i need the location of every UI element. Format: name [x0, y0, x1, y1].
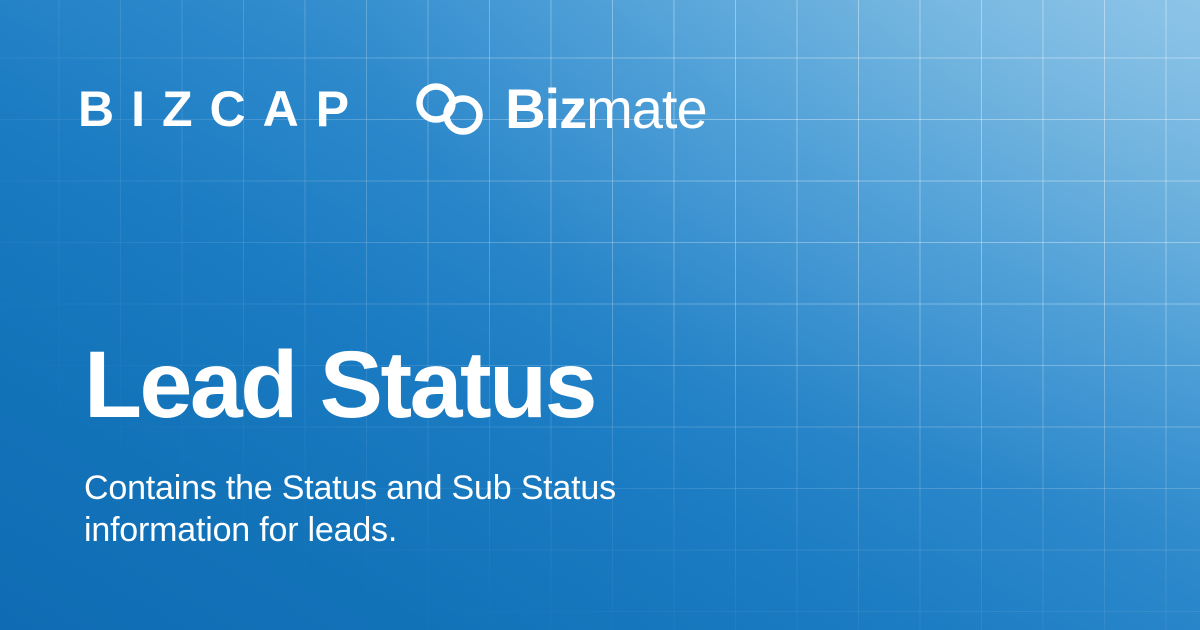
bizmate-logo: Bizmate: [411, 81, 707, 137]
og-share-card: BIZCAP Bizmate Lead Status Contains the …: [0, 0, 1200, 630]
bizmate-wordmark-bold: Biz: [505, 77, 586, 140]
brand-logo-row: BIZCAP Bizmate: [78, 78, 707, 140]
hero-text-block: Lead Status Contains the Status and Sub …: [84, 338, 944, 551]
bizcap-logo: BIZCAP: [78, 84, 366, 134]
page-subtitle: Contains the Status and Sub Status infor…: [84, 467, 724, 551]
bizmate-wordmark: Bizmate: [505, 81, 707, 137]
bizmate-wordmark-light: mate: [586, 77, 707, 140]
page-title: Lead Status: [84, 338, 944, 433]
two-overlapping-circles-icon: [411, 83, 489, 135]
